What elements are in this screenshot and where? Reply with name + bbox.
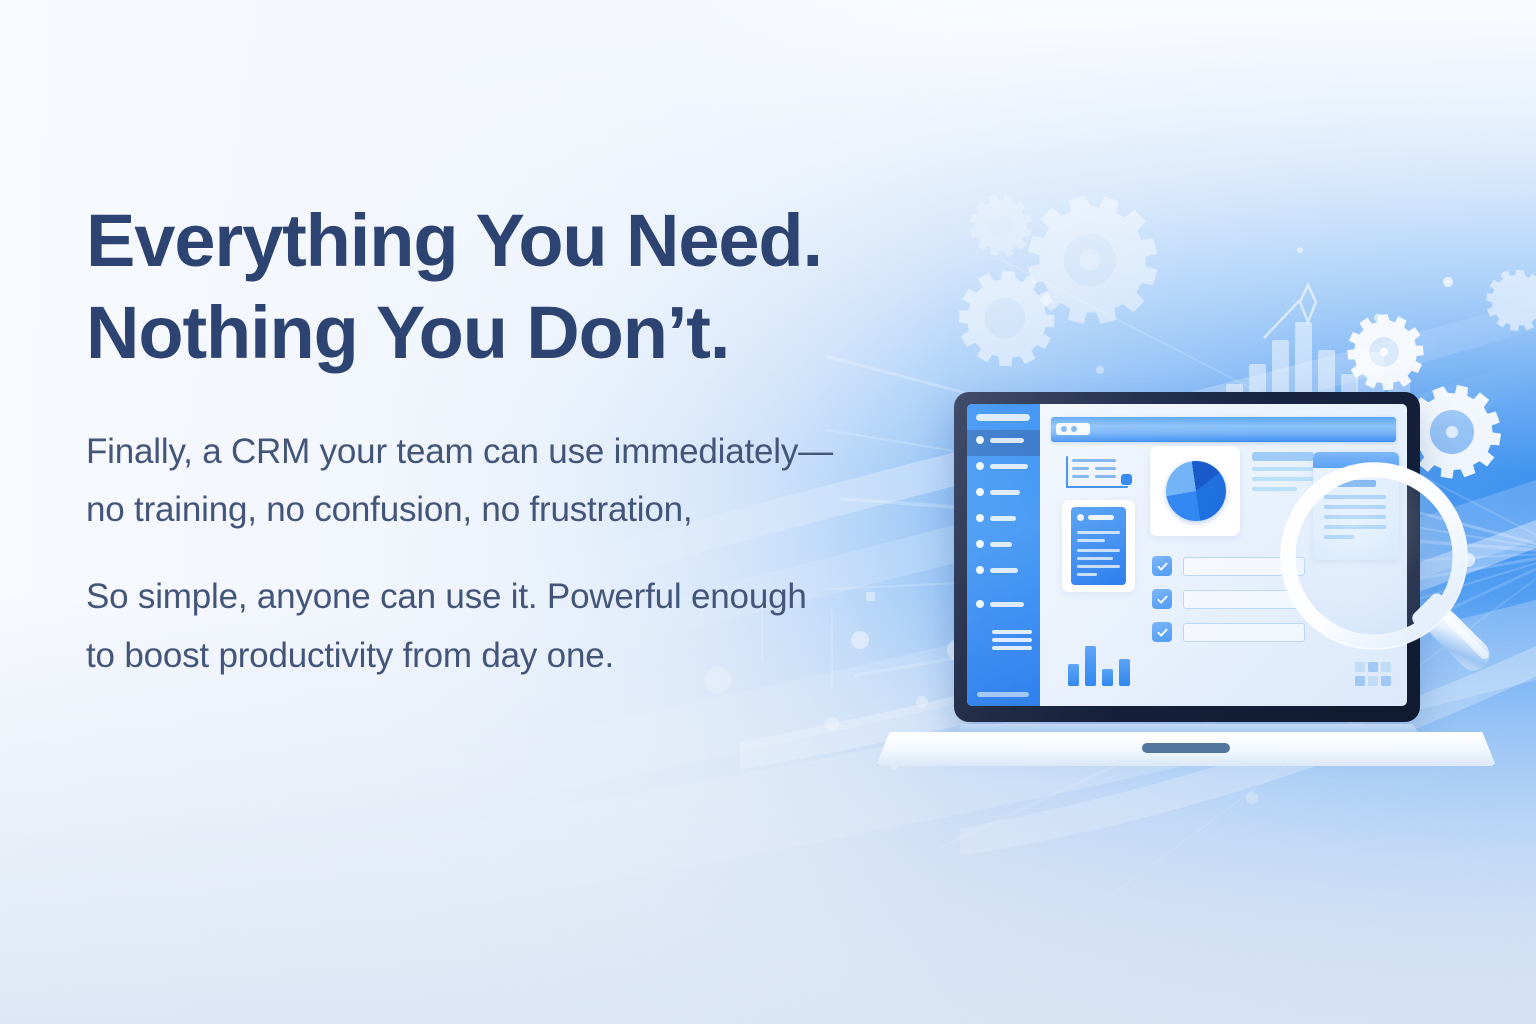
sidebar-footer-bar	[977, 692, 1029, 697]
sidebar-item-label	[990, 464, 1028, 469]
sidebar-item-label	[990, 516, 1016, 521]
hero-copy-block: Everything You Need. Nothing You Don’t. …	[86, 195, 966, 686]
hamburger-icon[interactable]	[992, 630, 1032, 654]
subheadline-p2-line-1: So simple, anyone can use it. Powerful e…	[86, 577, 807, 616]
laptop-mockup	[876, 392, 1496, 772]
laptop-screen	[967, 404, 1407, 706]
app-main-panel	[1040, 404, 1407, 706]
pie-chart	[1166, 461, 1226, 521]
checkbox-checked-icon[interactable]	[1152, 556, 1172, 576]
checklist-row-2[interactable]	[1152, 589, 1337, 609]
toolbar-dots-group	[1056, 423, 1090, 435]
hero-banner: Everything You Need. Nothing You Don’t. …	[0, 0, 1536, 1024]
subheadline-p1-line-2: no training, no confusion, no frustratio…	[86, 490, 692, 529]
sidebar-item-label	[990, 568, 1018, 573]
sidebar-item-1[interactable]	[976, 436, 1024, 444]
app-logo-placeholder	[976, 414, 1030, 421]
checklist-input-2[interactable]	[1183, 590, 1305, 609]
checklist-form	[1152, 556, 1337, 642]
grid-thumbnail	[1355, 662, 1391, 688]
checklist-row-3[interactable]	[1152, 622, 1337, 642]
checkbox-checked-icon[interactable]	[1152, 622, 1172, 642]
sidebar-item-label	[990, 542, 1012, 547]
sidebar-item-3[interactable]	[976, 488, 1020, 496]
subheadline-p1-line-1: Finally, a CRM your team can use immedia…	[86, 432, 833, 471]
bullet-icon	[976, 540, 984, 548]
bar-3	[1102, 669, 1113, 686]
text-lines-block	[1252, 452, 1314, 497]
subheadline-paragraph-1: Finally, a CRM your team can use immedia…	[86, 423, 966, 541]
checklist-input-3[interactable]	[1183, 623, 1305, 642]
subheadline-paragraph-2: So simple, anyone can use it. Powerful e…	[86, 568, 966, 686]
toolbar-dot-2-icon	[1071, 426, 1077, 432]
headline-line-1: Everything You Need.	[86, 195, 966, 287]
table-list-icon	[1066, 456, 1128, 488]
tag-badge-icon	[1121, 474, 1132, 485]
sidebar-item-label	[990, 602, 1024, 607]
sidebar-item-label	[990, 490, 1020, 495]
subheadline-p2-line-2: to boost productivity from day one.	[86, 636, 614, 675]
document-card[interactable]	[1062, 500, 1135, 592]
avatar	[1077, 514, 1084, 521]
bar-4	[1119, 659, 1130, 686]
app-toolbar[interactable]	[1051, 417, 1396, 442]
pie-chart-card[interactable]	[1150, 446, 1240, 536]
sidebar-item-7[interactable]	[976, 600, 1024, 608]
bullet-icon	[976, 514, 984, 522]
checklist-input-1[interactable]	[1183, 557, 1305, 576]
sidebar-item-5[interactable]	[976, 540, 1012, 548]
document-thumbnail	[1071, 507, 1126, 585]
bar-chart-widget	[1068, 642, 1130, 686]
bar-1	[1068, 664, 1079, 686]
bullet-icon	[976, 488, 984, 496]
bar-2	[1085, 646, 1096, 686]
magnified-detail-card[interactable]	[1313, 452, 1399, 560]
page-title: Everything You Need. Nothing You Don’t.	[86, 195, 966, 379]
laptop-lid	[954, 392, 1420, 722]
laptop-base-notch	[1142, 743, 1230, 753]
toolbar-dot-1-icon	[1061, 426, 1067, 432]
checkbox-checked-icon[interactable]	[1152, 589, 1172, 609]
bullet-icon	[976, 566, 984, 574]
sidebar-item-label	[990, 438, 1024, 443]
sidebar-item-2[interactable]	[976, 462, 1028, 470]
headline-line-2: Nothing You Don’t.	[86, 287, 966, 379]
bullet-icon	[976, 600, 984, 608]
bullet-icon	[976, 436, 984, 444]
checklist-row-1[interactable]	[1152, 556, 1337, 576]
app-sidebar	[967, 404, 1040, 706]
sidebar-item-4[interactable]	[976, 514, 1016, 522]
sidebar-item-6[interactable]	[976, 566, 1018, 574]
bullet-icon	[976, 462, 984, 470]
